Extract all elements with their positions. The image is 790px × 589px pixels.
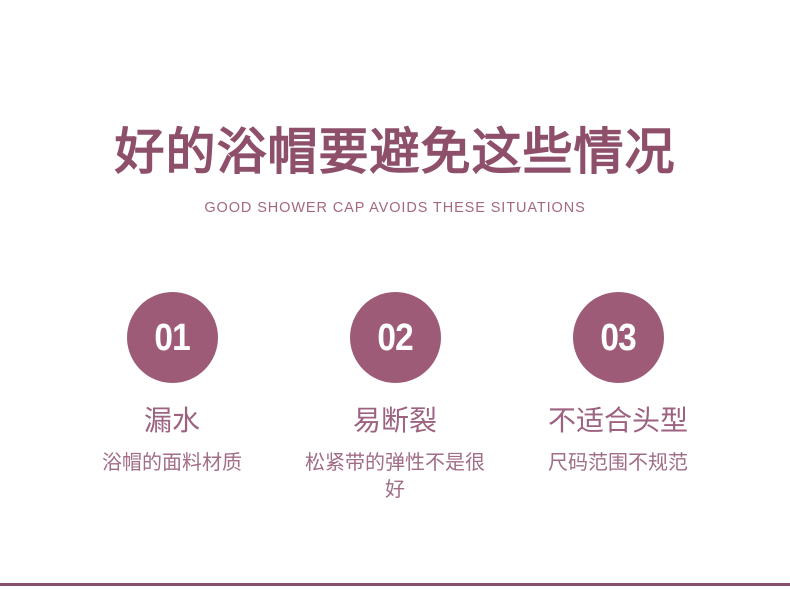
header-block: 好的浴帽要避免这些情况 GOOD SHOWER CAP AVOIDS THESE… [0, 122, 790, 218]
badge-number-label: 02 [377, 319, 412, 357]
item-title: 漏水 [144, 383, 200, 439]
badge-number-label: 03 [600, 319, 635, 357]
step-badge-01: 01 [127, 292, 218, 383]
list-item: 03 不适合头型 尺码范围不规范 [507, 292, 729, 476]
list-item: 01 漏水 浴帽的面料材质 [61, 292, 283, 476]
page-subtitle: GOOD SHOWER CAP AVOIDS THESE SITUATIONS [0, 182, 790, 218]
list-item: 02 易断裂 松紧带的弹性不是很好 [284, 292, 506, 503]
step-badge-02: 02 [350, 292, 441, 383]
step-badge-03: 03 [573, 292, 664, 383]
page-title: 好的浴帽要避免这些情况 [0, 122, 790, 182]
item-title: 不适合头型 [548, 383, 688, 439]
item-description: 尺码范围不规范 [548, 439, 688, 476]
feature-list: 01 漏水 浴帽的面料材质 02 易断裂 松紧带的弹性不是很好 03 不适合头型… [61, 292, 729, 503]
item-title: 易断裂 [353, 383, 437, 439]
promo-banner: 好的浴帽要避免这些情况 GOOD SHOWER CAP AVOIDS THESE… [0, 0, 790, 589]
badge-number-label: 01 [154, 319, 189, 357]
item-description: 浴帽的面料材质 [102, 439, 242, 476]
item-description: 松紧带的弹性不是很好 [305, 439, 485, 503]
bottom-divider [0, 583, 790, 586]
